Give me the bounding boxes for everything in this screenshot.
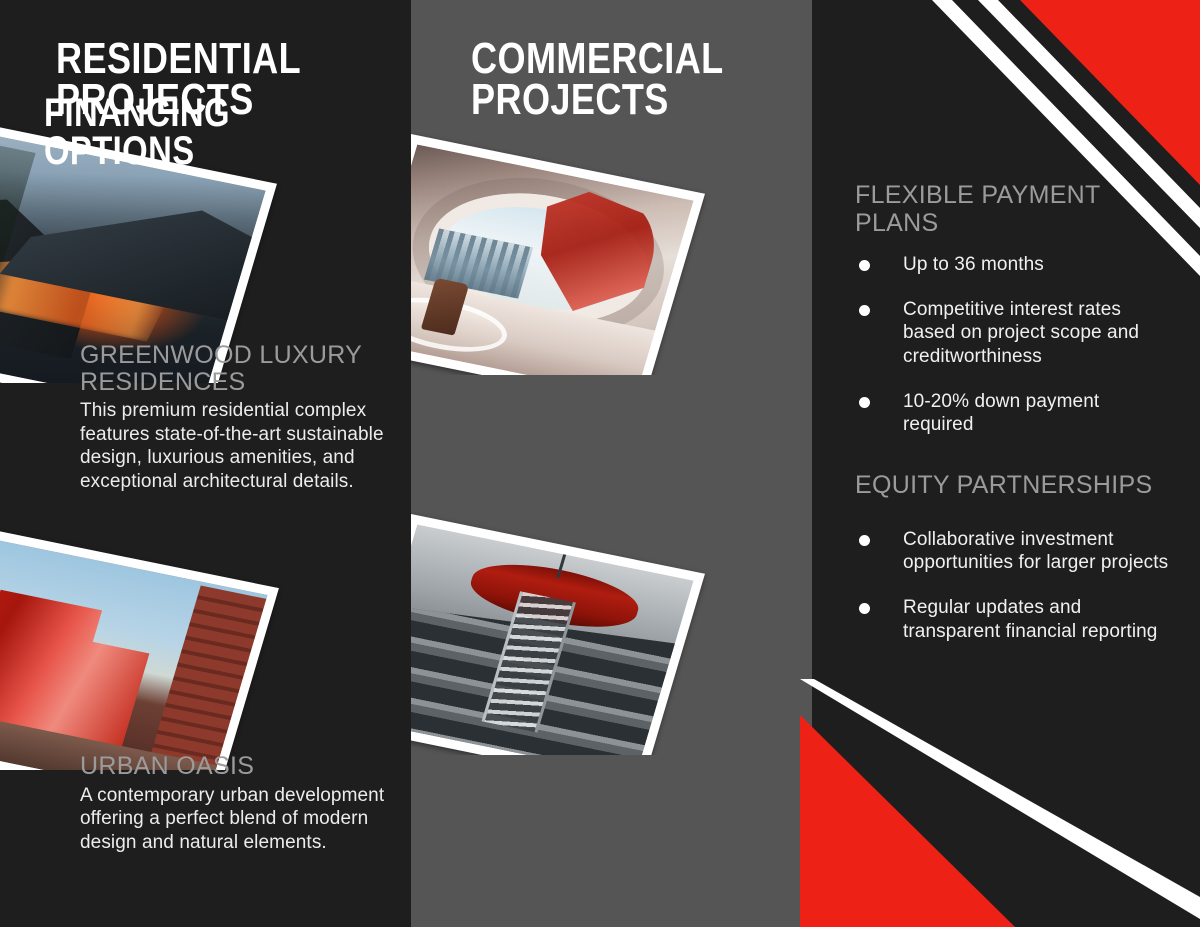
greenwood-project-name: GREENWOOD LUXURY RESIDENCES	[80, 342, 400, 395]
bullet-text: Up to 36 months	[903, 254, 1044, 275]
equity-partnerships-heading: EQUITY PARTNERSHIPS	[855, 472, 1165, 500]
bullet-text: Collaborative investment opportunities f…	[903, 529, 1168, 573]
plaza-right-building-layer	[150, 586, 266, 770]
page-title-commercial: COMMERCIAL PROJECTS	[471, 38, 724, 121]
house-interior-glow-layer	[0, 230, 181, 344]
urban-oasis-project-name: URBAN OASIS	[80, 753, 400, 780]
equity-partnerships-bullet-list: Collaborative investment opportunities f…	[855, 528, 1175, 665]
tech-park-photo-inner	[411, 144, 694, 375]
plaza-photo-image	[411, 524, 694, 755]
plaza-spiral-staircase-layer	[482, 591, 576, 732]
plaza-photo-inner	[411, 524, 694, 755]
list-item: Collaborative investment opportunities f…	[855, 528, 1175, 574]
flexible-payment-plans-heading: FLEXIBLE PAYMENT PLANS	[855, 182, 1155, 237]
urban-oasis-project-description: A contemporary urban development offerin…	[80, 784, 400, 855]
financing-options-panel	[812, 0, 1200, 927]
bullet-dot-icon	[859, 535, 870, 546]
greenwood-caption: GREENWOOD LUXURY RESIDENCES This premium…	[80, 342, 400, 493]
greenwood-project-description: This premium residential complex feature…	[80, 399, 400, 493]
page-title-financing: FINANCING OPTIONS	[44, 95, 230, 170]
urban-oasis-photo-image	[0, 528, 268, 770]
bullet-text: 10-20% down payment required	[903, 391, 1099, 435]
bullet-dot-icon	[859, 603, 870, 614]
list-item: 10-20% down payment required	[855, 390, 1175, 436]
bullet-text: Competitive interest rates based on proj…	[903, 299, 1139, 366]
brochure-page: RESIDENTIAL PROJECTS GREENWOOD LUXURY RE…	[0, 0, 1200, 927]
commercial-projects-panel: COMMERCIAL PROJECTS TECH PARK COMMERCIAL…	[411, 0, 812, 927]
list-item: Up to 36 months	[855, 253, 1175, 276]
urban-oasis-photo	[0, 520, 305, 770]
bullet-text: Regular updates and transparent financia…	[903, 597, 1157, 641]
plaza-rooftop-mast-layer	[557, 554, 567, 578]
bullet-dot-icon	[859, 397, 870, 408]
urban-oasis-caption: URBAN OASIS A contemporary urban develop…	[80, 753, 400, 854]
tech-park-photo-image	[411, 144, 694, 375]
plaza-mixed-use-development-photo	[411, 510, 711, 755]
bullet-dot-icon	[859, 305, 870, 316]
list-item: Regular updates and transparent financia…	[855, 596, 1175, 642]
flexible-payment-plans-bullet-list: Up to 36 months Competitive interest rat…	[855, 253, 1175, 458]
tech-park-commercial-hub-photo	[411, 130, 711, 375]
list-item: Competitive interest rates based on proj…	[855, 298, 1175, 368]
house-trees-layer	[0, 133, 35, 367]
bullet-dot-icon	[859, 260, 870, 271]
urban-oasis-photo-inner	[0, 528, 268, 770]
